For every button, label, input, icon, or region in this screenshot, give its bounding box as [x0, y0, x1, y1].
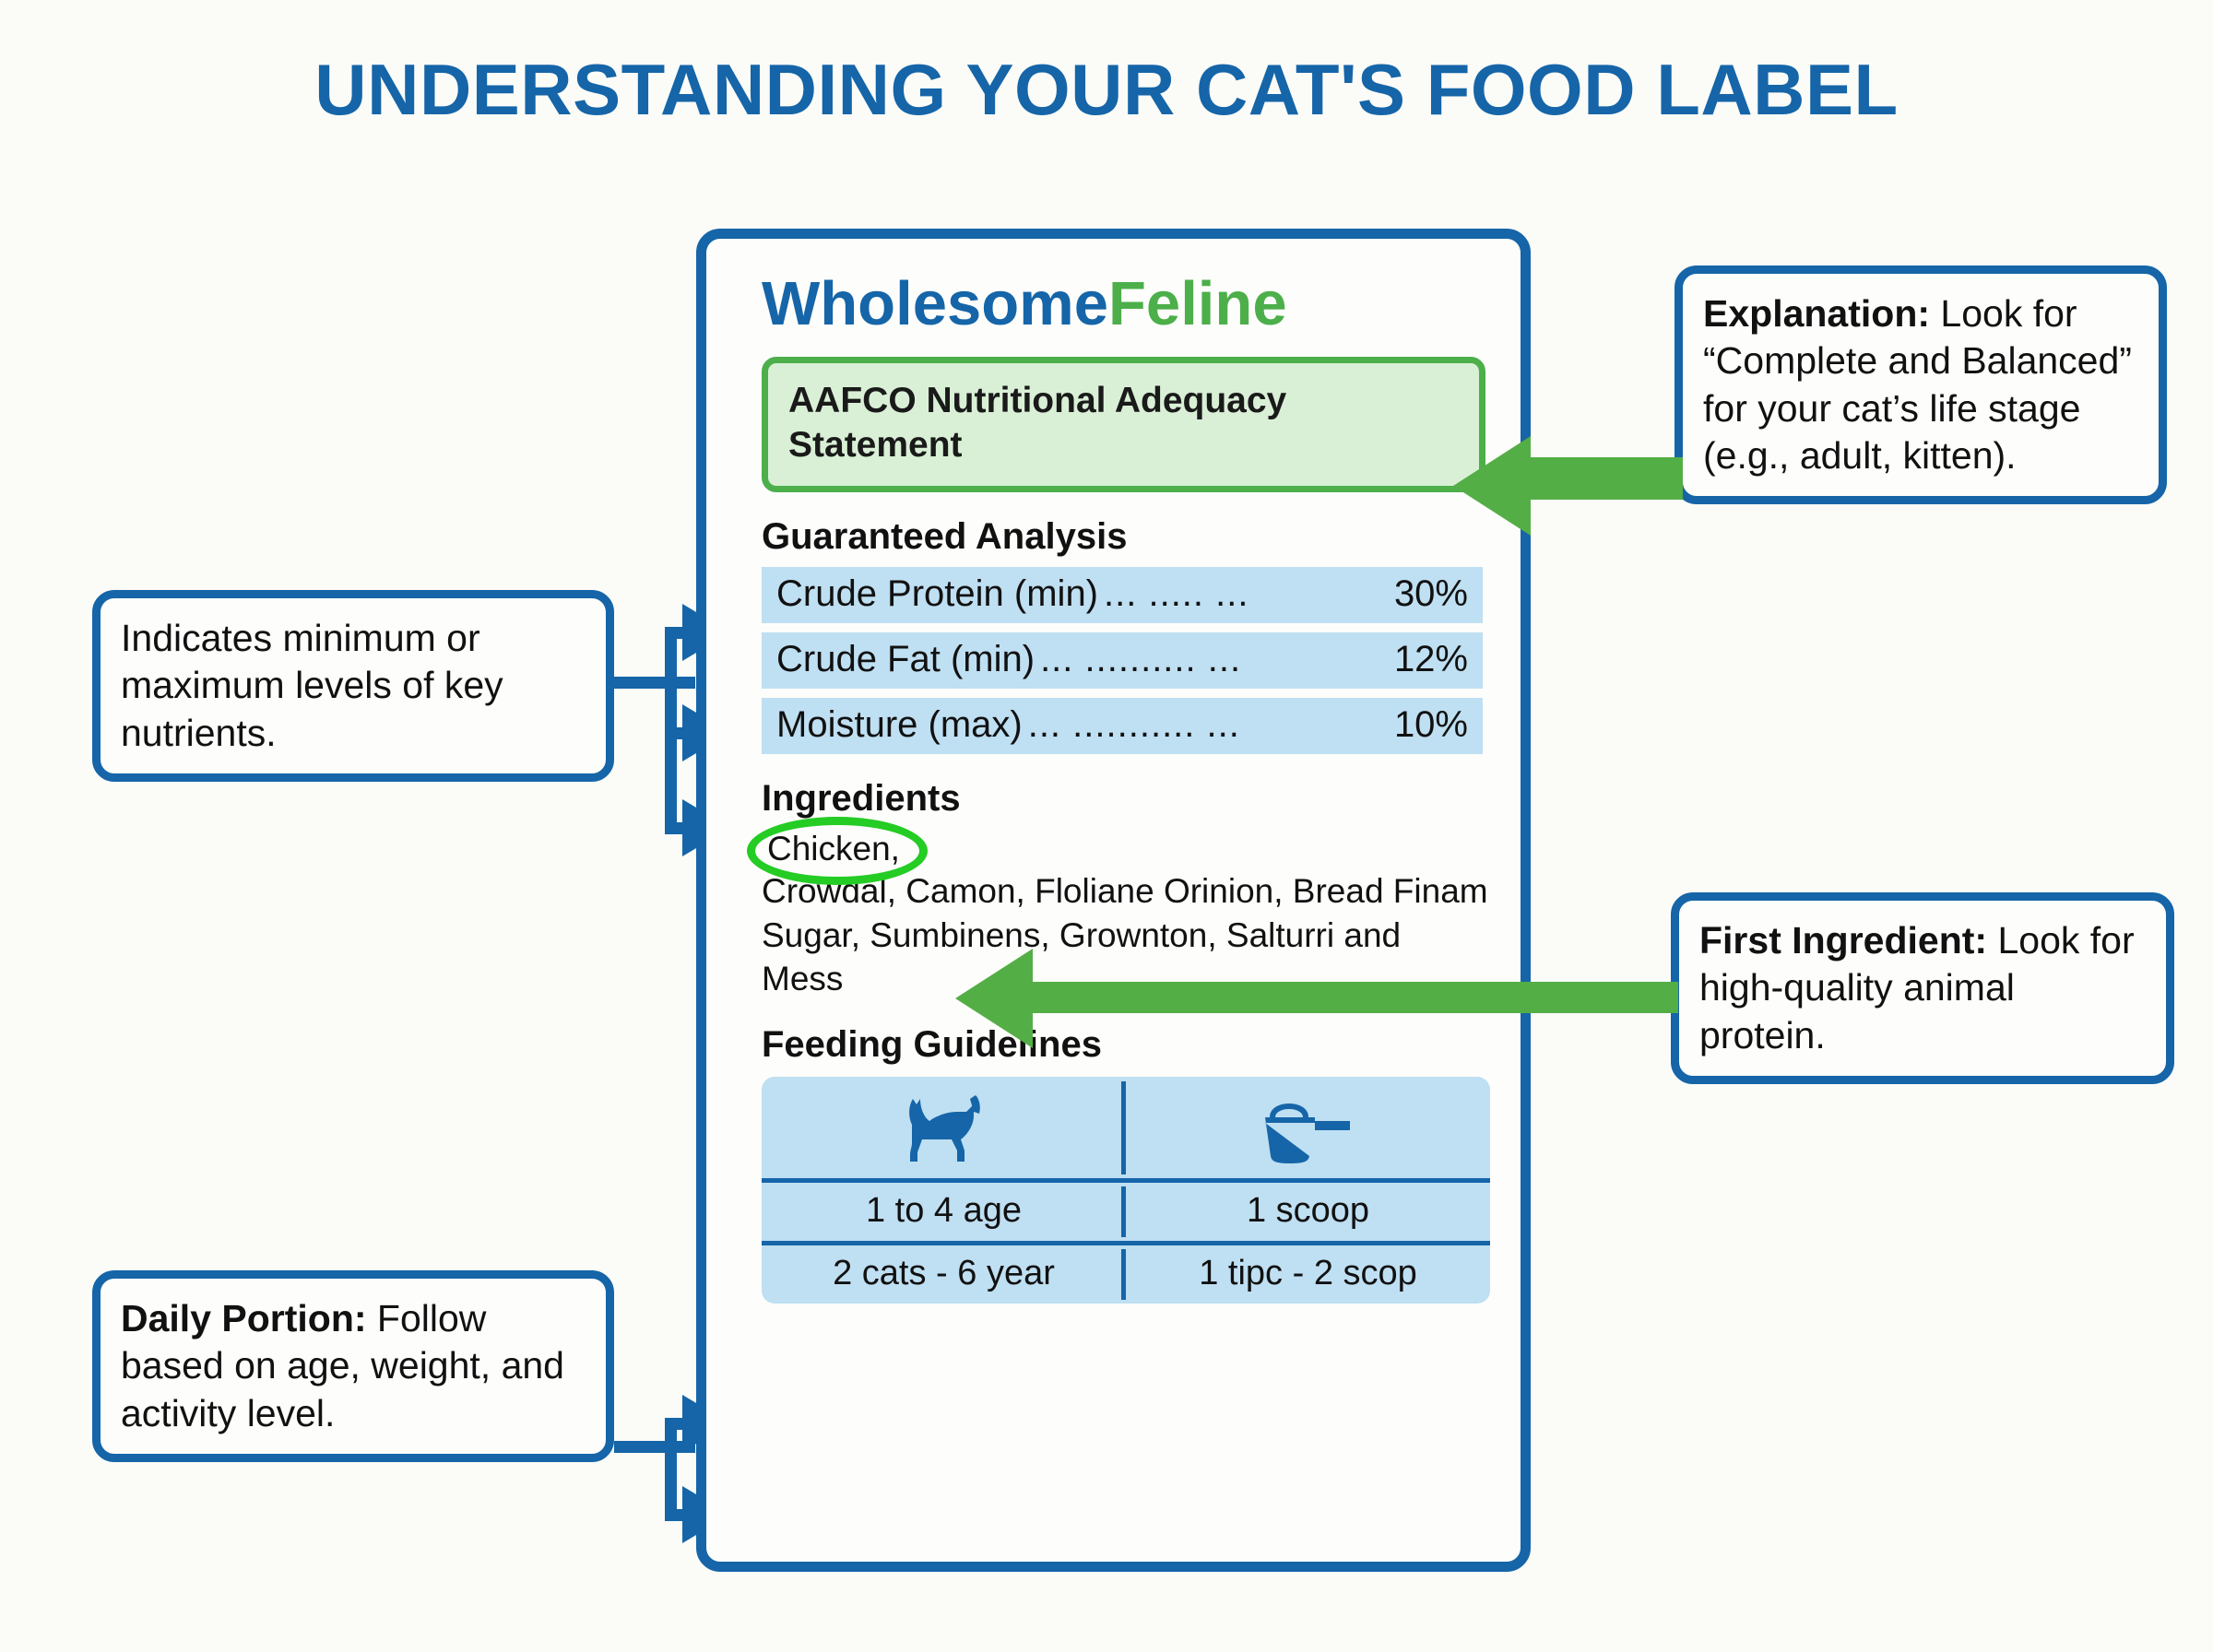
callout-daily-portion-label: Daily Portion: — [121, 1297, 367, 1339]
green-arrowhead-ingredient-icon — [955, 949, 1033, 1048]
scoop-icon — [1126, 1077, 1490, 1178]
first-ingredient-text: Chicken, — [762, 830, 905, 867]
feeding-guidelines-table: 1 to 4 age 1 scoop 2 cats - 6 year 1 tip… — [762, 1077, 1490, 1304]
feeding-age-value: 2 cats - 6 year — [762, 1245, 1126, 1304]
connector-nutrients-stub — [614, 677, 695, 689]
brand-name-part-2: Feline — [1108, 269, 1287, 338]
callout-nutrient-levels-text: Indicates minimum or maximum levels of k… — [121, 617, 503, 754]
nutrient-value: 12% — [1394, 639, 1468, 680]
nutrient-value: 10% — [1394, 704, 1468, 746]
callout-daily-portion: Daily Portion: Follow based on age, weig… — [92, 1270, 614, 1462]
leader-dots: ... ........... ... — [1023, 704, 1394, 746]
cat-icon — [762, 1077, 1126, 1178]
callout-first-ingredient-label: First Ingredient: — [1699, 919, 1987, 962]
callout-explanation: Explanation: Look for “Complete and Bala… — [1675, 265, 2167, 504]
feeding-age-value: 1 to 4 age — [762, 1183, 1126, 1241]
table-header-row — [762, 1077, 1490, 1178]
callout-nutrient-levels: Indicates minimum or maximum levels of k… — [92, 590, 614, 782]
callout-first-ingredient: First Ingredient: Look for high-quality … — [1671, 892, 2174, 1084]
brand-name-part-1: Wholesome — [762, 269, 1108, 338]
guaranteed-analysis-heading: Guaranteed Analysis — [762, 516, 1491, 558]
green-arrow-shaft-ingredient — [1033, 982, 1678, 1013]
green-arrow-shaft-aafco — [1531, 457, 1683, 500]
guaranteed-analysis-row: Crude Protein (min) ... ..... ... 30% — [762, 567, 1483, 623]
feeding-amount-value: 1 scoop — [1126, 1183, 1490, 1241]
ingredients-list-text: Crowdal, Camon, Floliane Orinion, Bread … — [762, 869, 1490, 1000]
nutrient-name: Crude Fat (min) — [776, 639, 1035, 680]
infographic-canvas: UNDERSTANDING YOUR CAT'S FOOD LABEL Whol… — [0, 0, 2213, 1652]
leader-dots: ... ..... ... — [1098, 573, 1394, 615]
aafco-statement-text: AAFCO Nutritional Adequacy Statement — [788, 381, 1286, 465]
guaranteed-analysis-row: Moisture (max) ... ........... ... 10% — [762, 698, 1483, 754]
feeding-amount-value: 1 tipc - 2 scop — [1126, 1245, 1490, 1304]
cat-food-label-panel: WholesomeFeline AAFCO Nutritional Adequa… — [696, 229, 1531, 1572]
leader-dots: ... .......... ... — [1035, 639, 1394, 680]
aafco-statement-box: AAFCO Nutritional Adequacy Statement — [762, 357, 1485, 491]
first-ingredient-highlight: Chicken, — [762, 829, 905, 869]
ingredients-heading: Ingredients — [762, 778, 1491, 820]
green-arrowhead-aafco-icon — [1453, 436, 1531, 536]
connector-daily-spine — [665, 1418, 677, 1521]
table-row: 1 to 4 age 1 scoop — [762, 1178, 1490, 1241]
brand-logo: WholesomeFeline — [762, 272, 1491, 336]
guaranteed-analysis-row: Crude Fat (min) ... .......... ... 12% — [762, 632, 1483, 689]
nutrient-value: 30% — [1394, 573, 1468, 615]
page-title: UNDERSTANDING YOUR CAT'S FOOD LABEL — [0, 48, 2213, 132]
table-row: 2 cats - 6 year 1 tipc - 2 scop — [762, 1241, 1490, 1304]
nutrient-name: Crude Protein (min) — [776, 573, 1098, 615]
nutrient-name: Moisture (max) — [776, 704, 1023, 746]
callout-explanation-label: Explanation: — [1703, 292, 1930, 335]
feeding-guidelines-heading: Feeding Guidelines — [762, 1024, 1491, 1066]
